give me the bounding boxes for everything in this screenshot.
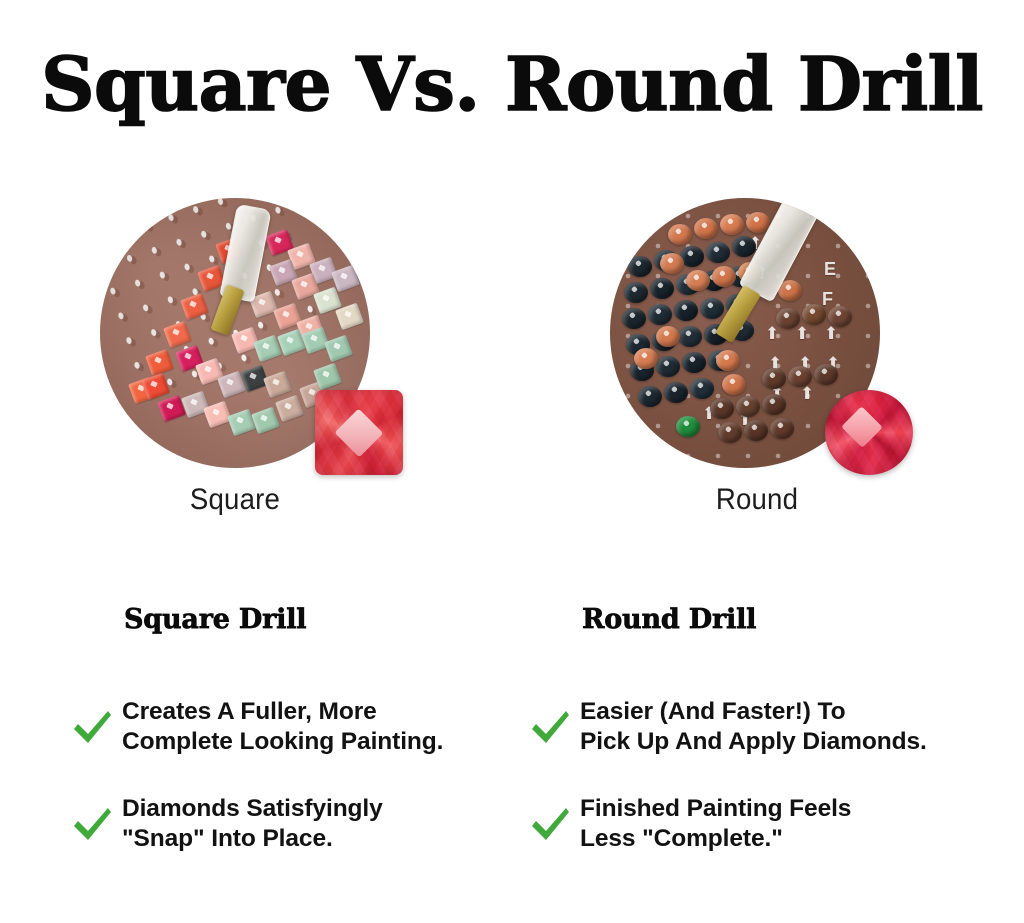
comparison-panel-round: E F ⬆ ⬆ ⬆ ⬆ ⬆ ⬆ ⬆ ⬆ ⬆ ⬆ ⬆ ⬆ ⬆ [512,198,1024,528]
bead [802,304,826,325]
benefit-item: Creates A Fuller, More Complete Looking … [70,696,530,758]
square-drill-photo [100,198,400,470]
bead [624,282,648,303]
bead [650,278,674,299]
bead [718,422,742,443]
bead [664,382,688,403]
bead [720,214,744,235]
bead [690,378,714,399]
bead [686,270,710,291]
comparison-panels: Square E F ⬆ ⬆ ⬆ ⬆ ⬆ ⬆ ⬆ ⬆ ⬆ [0,198,1024,528]
check-icon [70,802,114,846]
page-title: Square Vs. Round Drill [0,48,1024,122]
bead [676,416,700,437]
bead [628,256,652,277]
canvas-letter: F [822,290,833,308]
benefit-text: Diamonds Satisfyingly "Snap" Into Place. [122,794,383,854]
bead [762,368,786,389]
bead [674,300,698,321]
bead [716,350,740,371]
bead [712,266,736,287]
bead [744,420,768,441]
bead [762,394,786,415]
gem-round-body [825,390,913,475]
benefit-text: Creates A Fuller, More Complete Looking … [122,697,443,757]
bead [660,253,684,274]
gem-square-body [315,390,403,475]
bead [648,304,672,325]
gem-facets [825,390,913,475]
benefit-item: Finished Painting Feels Less "Complete." [528,793,988,855]
benefit-column-round: Round Drill Easier (And Faster!) To Pick… [528,604,988,855]
canvas-arrow: ⬆ [795,326,809,343]
benefit-text: Finished Painting Feels Less "Complete." [580,794,851,854]
bead [814,364,838,385]
benefit-column-square: Square Drill Creates A Fuller, More Comp… [70,604,530,855]
benefit-item: Diamonds Satisfyingly "Snap" Into Place. [70,793,530,855]
bead [682,352,706,373]
bead [770,418,794,439]
check-icon [528,802,572,846]
bead [678,326,702,347]
canvas-arrow: ⬆ [824,326,838,343]
square-gem-closeup [315,390,403,475]
bead [710,398,734,419]
bead [706,242,730,263]
benefit-text: Easier (And Faster!) To Pick Up And Appl… [580,697,927,757]
bead [776,308,800,329]
bead [656,326,680,347]
bead [700,298,724,319]
canvas-letter: E [824,260,836,278]
bead [736,396,760,417]
bead [668,224,692,245]
bead [634,348,658,369]
canvas-arrow: ⬆ [800,386,814,403]
column-heading-square: Square Drill [124,604,530,635]
caption-round: Round [619,483,895,517]
bead [622,308,646,329]
infographic-page: Square Vs. Round Drill [0,0,1024,923]
benefit-columns: Square Drill Creates A Fuller, More Comp… [0,604,1024,904]
bead [694,218,718,239]
check-icon [70,705,114,749]
caption-square: Square [97,483,373,517]
column-heading-round: Round Drill [582,604,988,635]
round-gem-closeup [825,390,913,475]
bead [788,366,812,387]
benefit-item: Easier (And Faster!) To Pick Up And Appl… [528,696,988,758]
bead [638,386,662,407]
bead [722,374,746,395]
check-icon [528,705,572,749]
gem-facets [315,390,403,475]
comparison-panel-square: Square [0,198,512,528]
bead [732,236,756,257]
round-drill-photo: E F ⬆ ⬆ ⬆ ⬆ ⬆ ⬆ ⬆ ⬆ ⬆ ⬆ ⬆ ⬆ ⬆ [610,198,910,470]
bead [828,306,852,327]
canvas-arrow: ⬆ [765,326,779,343]
bead [656,356,680,377]
